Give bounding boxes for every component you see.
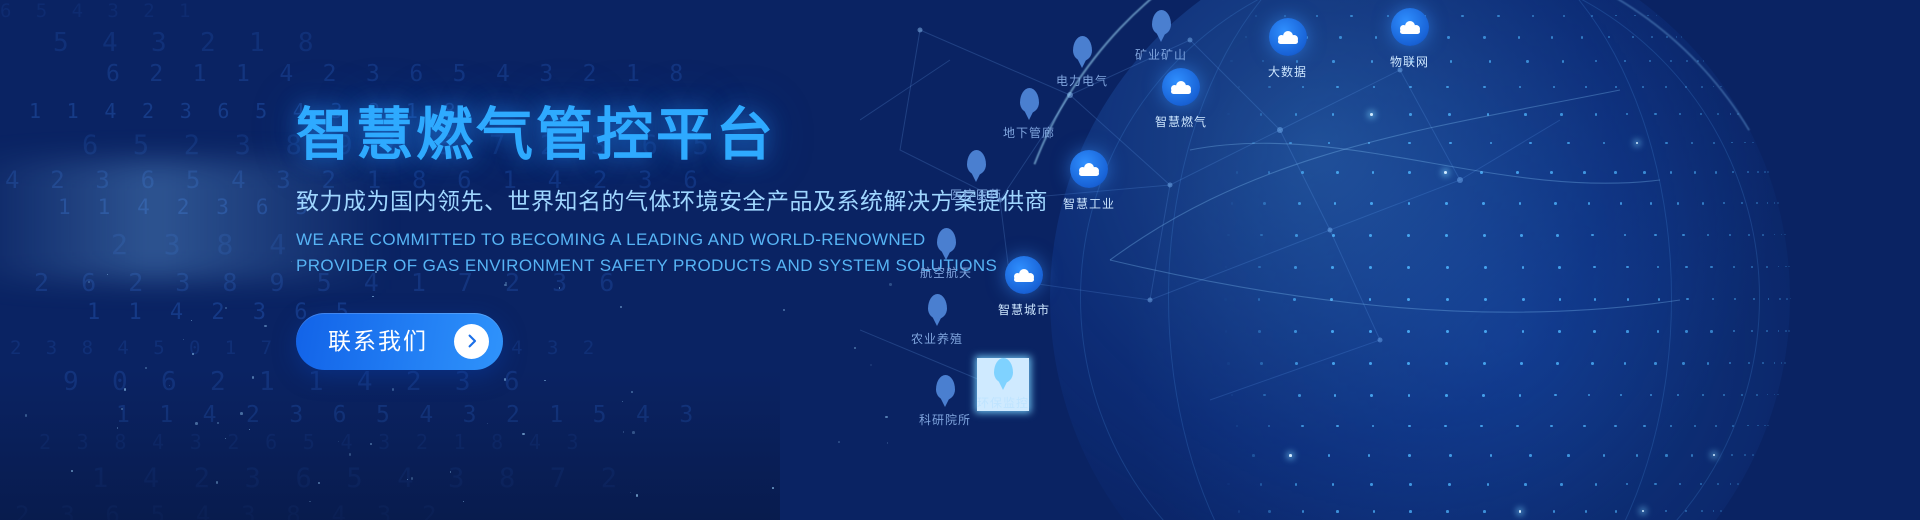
particle bbox=[291, 261, 292, 262]
map-pin-icon bbox=[1020, 88, 1039, 113]
particle bbox=[838, 441, 840, 443]
digit-row: 2 3 8 4 bbox=[111, 231, 296, 259]
particle bbox=[216, 481, 219, 484]
particle bbox=[195, 422, 198, 425]
particle bbox=[121, 408, 123, 410]
industry-marker-label: 航空航天 bbox=[920, 264, 972, 281]
bottom-haze-decoration bbox=[0, 370, 780, 520]
particle bbox=[25, 414, 28, 417]
industry-marker-label: 医疗医药 bbox=[950, 186, 1002, 203]
digit-row: 2 3 8 4 3 2 6 5 4 3 2 1 8 4 3 bbox=[39, 432, 585, 452]
industry-marker-label: 智慧城市 bbox=[998, 301, 1050, 318]
cloud-icon bbox=[1070, 150, 1108, 188]
particle bbox=[349, 453, 352, 456]
contact-us-button[interactable]: 联系我们 bbox=[296, 313, 503, 370]
subtitle-english-line2: PROVIDER OF GAS ENVIRONMENT SAFETY PRODU… bbox=[296, 253, 996, 279]
industry-marker-5[interactable]: 农业养殖 bbox=[911, 294, 963, 347]
particle bbox=[622, 401, 623, 402]
particle bbox=[192, 353, 194, 355]
subtitle-chinese: 致力成为国内领先、世界知名的气体环境安全产品及系统解决方案提供商 bbox=[296, 186, 996, 217]
contact-us-button-label: 联系我们 bbox=[328, 330, 428, 353]
arrow-right-icon bbox=[454, 324, 489, 359]
particle bbox=[124, 388, 126, 390]
digit-row: 1 4 2 3 6 5 4 3 8 7 2 bbox=[92, 465, 626, 492]
industry-marker-label: 地下管廊 bbox=[1003, 124, 1055, 141]
particle bbox=[632, 431, 635, 434]
cloud-icon bbox=[1269, 18, 1307, 56]
particle bbox=[183, 339, 185, 341]
industry-marker-label: 环保监控 bbox=[977, 394, 1029, 411]
particle bbox=[450, 471, 452, 473]
map-pin-icon bbox=[967, 150, 986, 175]
industry-marker-10[interactable]: 智慧燃气 bbox=[1155, 68, 1207, 130]
digit-row: 6 2 1 1 4 2 3 6 5 4 3 2 1 8 bbox=[106, 63, 691, 86]
particle bbox=[88, 281, 90, 283]
particle bbox=[504, 378, 506, 380]
particle bbox=[392, 388, 395, 391]
particle bbox=[217, 422, 219, 424]
industry-marker-9[interactable]: 智慧工业 bbox=[1063, 150, 1115, 212]
particle bbox=[107, 274, 108, 275]
map-pin-icon bbox=[1152, 10, 1171, 35]
cloud-icon bbox=[1162, 68, 1200, 106]
cloud-icon bbox=[1005, 256, 1043, 294]
industry-marker-0[interactable]: 矿业矿山 bbox=[1135, 10, 1187, 63]
hero-copy: 智慧燃气管控平台 致力成为国内领先、世界知名的气体环境安全产品及系统解决方案提供… bbox=[296, 104, 996, 370]
particle bbox=[264, 325, 267, 328]
map-pin-icon bbox=[928, 294, 947, 319]
industry-marker-label: 电力电气 bbox=[1056, 72, 1108, 89]
subtitle-english-line1: WE ARE COMMITTED TO BECOMING A LEADING A… bbox=[296, 227, 996, 253]
industry-marker-label: 智慧工业 bbox=[1063, 195, 1115, 212]
industry-marker-label: 大数据 bbox=[1268, 63, 1307, 80]
cloud-icon bbox=[1391, 8, 1429, 46]
digit-row: 1 1 4 2 3 6 5 4 3 2 1 5 4 3 2 bbox=[116, 404, 720, 427]
industry-marker-label: 科研院所 bbox=[919, 411, 971, 428]
industry-marker-6[interactable]: 科研院所 bbox=[919, 375, 971, 428]
map-pin-icon bbox=[937, 228, 956, 253]
particle bbox=[169, 385, 170, 386]
industry-marker-12[interactable]: 物联网 bbox=[1390, 8, 1429, 70]
particle bbox=[225, 438, 226, 439]
industry-marker-1[interactable]: 电力电气 bbox=[1056, 36, 1108, 89]
particle bbox=[252, 376, 254, 378]
particle bbox=[411, 477, 413, 479]
particle bbox=[191, 320, 192, 321]
page-title: 智慧燃气管控平台 bbox=[296, 104, 996, 168]
industry-marker-3[interactable]: 医疗医药 bbox=[950, 150, 1002, 203]
industry-marker-label: 矿业矿山 bbox=[1135, 46, 1187, 63]
digit-row: 2 3 6 5 4 3 8 4 3 2 bbox=[15, 503, 445, 520]
particle bbox=[225, 307, 227, 309]
digit-row: 1 1 4 2 3 6 5 bbox=[58, 197, 315, 218]
particle bbox=[772, 487, 774, 489]
particle bbox=[636, 494, 638, 496]
industry-marker-label: 物联网 bbox=[1390, 53, 1429, 70]
particle bbox=[522, 433, 524, 435]
particle bbox=[407, 479, 408, 480]
map-pin-icon bbox=[994, 358, 1013, 383]
industry-marker-label: 智慧燃气 bbox=[1155, 113, 1207, 130]
particle bbox=[318, 482, 320, 484]
digit-row: 9 0 6 2 1 1 4 2 3 6 bbox=[63, 369, 528, 395]
digit-row: 6 5 4 3 2 1 bbox=[0, 2, 197, 21]
particle bbox=[623, 431, 625, 433]
industry-marker-2[interactable]: 地下管廊 bbox=[1003, 88, 1055, 141]
particle bbox=[370, 443, 372, 445]
industry-marker-label: 农业养殖 bbox=[911, 330, 963, 347]
particle bbox=[117, 427, 119, 429]
industry-marker-11[interactable]: 大数据 bbox=[1268, 18, 1307, 80]
hero-banner: 6 5 4 3 2 15 4 3 2 1 86 2 1 1 4 2 3 6 5 … bbox=[0, 0, 1920, 520]
particle bbox=[249, 429, 250, 430]
industry-marker-4[interactable]: 航空航天 bbox=[920, 228, 972, 281]
industry-marker-8[interactable]: 智慧城市 bbox=[998, 256, 1050, 318]
industry-marker-7[interactable]: 环保监控 bbox=[977, 358, 1029, 411]
particle bbox=[338, 441, 339, 442]
particle bbox=[309, 501, 311, 503]
particle bbox=[240, 412, 243, 415]
particle bbox=[544, 380, 545, 381]
particle bbox=[630, 492, 631, 493]
digit-row: 5 4 3 2 1 8 bbox=[53, 30, 322, 56]
particle bbox=[463, 501, 464, 502]
particle bbox=[631, 391, 633, 393]
map-pin-icon bbox=[936, 375, 955, 400]
particle bbox=[487, 423, 488, 424]
particle bbox=[71, 470, 73, 472]
particle bbox=[145, 367, 147, 369]
map-pin-icon bbox=[1073, 36, 1092, 61]
